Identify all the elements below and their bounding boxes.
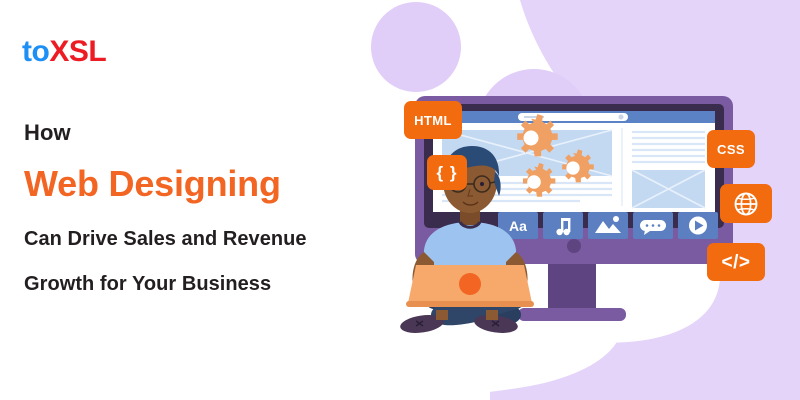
code-tag-icon: </> — [722, 253, 751, 272]
badge-css-label: CSS — [717, 143, 745, 156]
badge-html[interactable]: HTML — [404, 101, 462, 139]
headline-highlight: Web Designing — [24, 166, 394, 202]
curly-braces-icon: { } — [437, 164, 458, 181]
left-content-column: toXSL How Web Designing Can Drive Sales … — [0, 0, 400, 400]
logo-text-sl: SL — [69, 35, 106, 68]
headline-line-3: Can Drive Sales and Revenue — [24, 228, 394, 251]
screen-toolbar: Aa — [498, 212, 718, 239]
badge-css[interactable]: CSS — [707, 130, 755, 168]
headline-line-4: Growth for Your Business — [24, 273, 394, 296]
logo-text-to: to — [22, 35, 49, 68]
badge-globe[interactable] — [720, 184, 772, 223]
logo-text-x: X — [49, 35, 69, 68]
brand-logo[interactable]: toXSL — [22, 37, 106, 67]
play-button-icon — [689, 217, 707, 235]
badge-code-tag[interactable]: </> — [707, 243, 765, 281]
monitor-stand — [518, 255, 626, 321]
headline-line-1: How — [24, 122, 394, 144]
banner-root: toXSL How Web Designing Can Drive Sales … — [0, 0, 800, 400]
badge-curly-braces[interactable]: { } — [427, 155, 467, 190]
globe-icon — [733, 191, 759, 217]
text-tool-icon: Aa — [509, 218, 527, 234]
headline-block: How Web Designing Can Drive Sales and Re… — [24, 122, 394, 296]
badge-html-label: HTML — [414, 114, 452, 127]
